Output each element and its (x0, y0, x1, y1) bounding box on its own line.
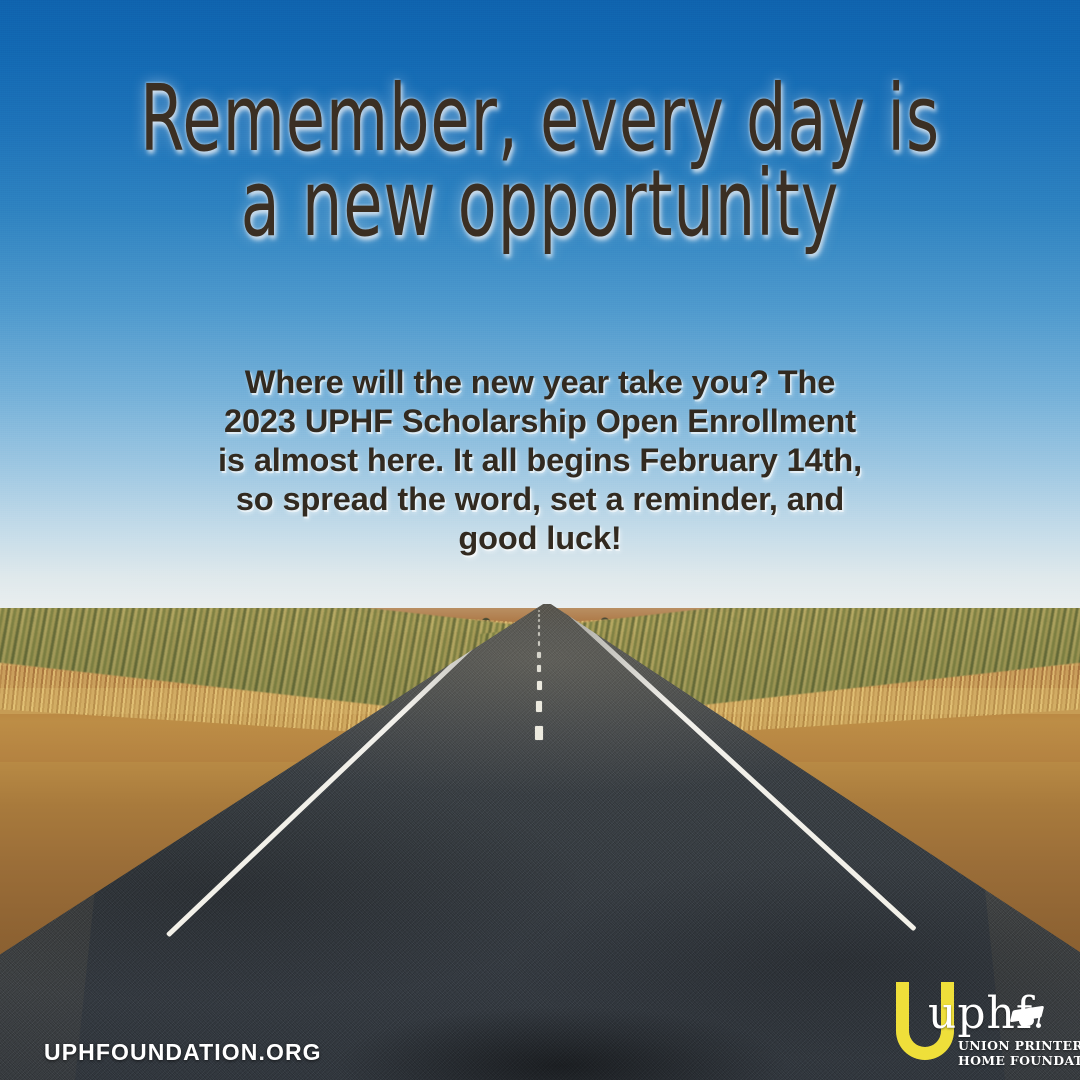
logo-subtitle-line-2: HOME FOUNDATION (958, 1054, 1080, 1069)
logo-subtitle: UNION PRINTERS HOME FOUNDATION (958, 1039, 1080, 1068)
poster-canvas: Remember, every day is a new opportunity… (0, 0, 1080, 1080)
sky-grain-overlay (0, 0, 1080, 614)
center-dash (538, 632, 540, 636)
center-dash (535, 726, 543, 740)
sky-background (0, 0, 1080, 614)
center-dash (537, 681, 542, 690)
logo-subtitle-line-1: UNION PRINTERS (958, 1039, 1080, 1054)
center-dash (538, 625, 540, 629)
center-dash (538, 610, 539, 612)
center-dash (536, 701, 542, 712)
center-dash (538, 619, 540, 622)
website-url[interactable]: UPHFOUNDATION.ORG (44, 1039, 322, 1066)
center-dash (538, 641, 541, 646)
cap-knot (1036, 1023, 1041, 1028)
center-dash (537, 665, 541, 672)
center-dash (537, 652, 540, 658)
uphf-logo[interactable]: uphf UNION PRINTERS HOME FOUNDATION (888, 982, 1068, 1074)
graduation-cap-icon (1012, 1004, 1050, 1028)
center-dash (538, 614, 539, 617)
cap-base (1018, 1015, 1034, 1027)
